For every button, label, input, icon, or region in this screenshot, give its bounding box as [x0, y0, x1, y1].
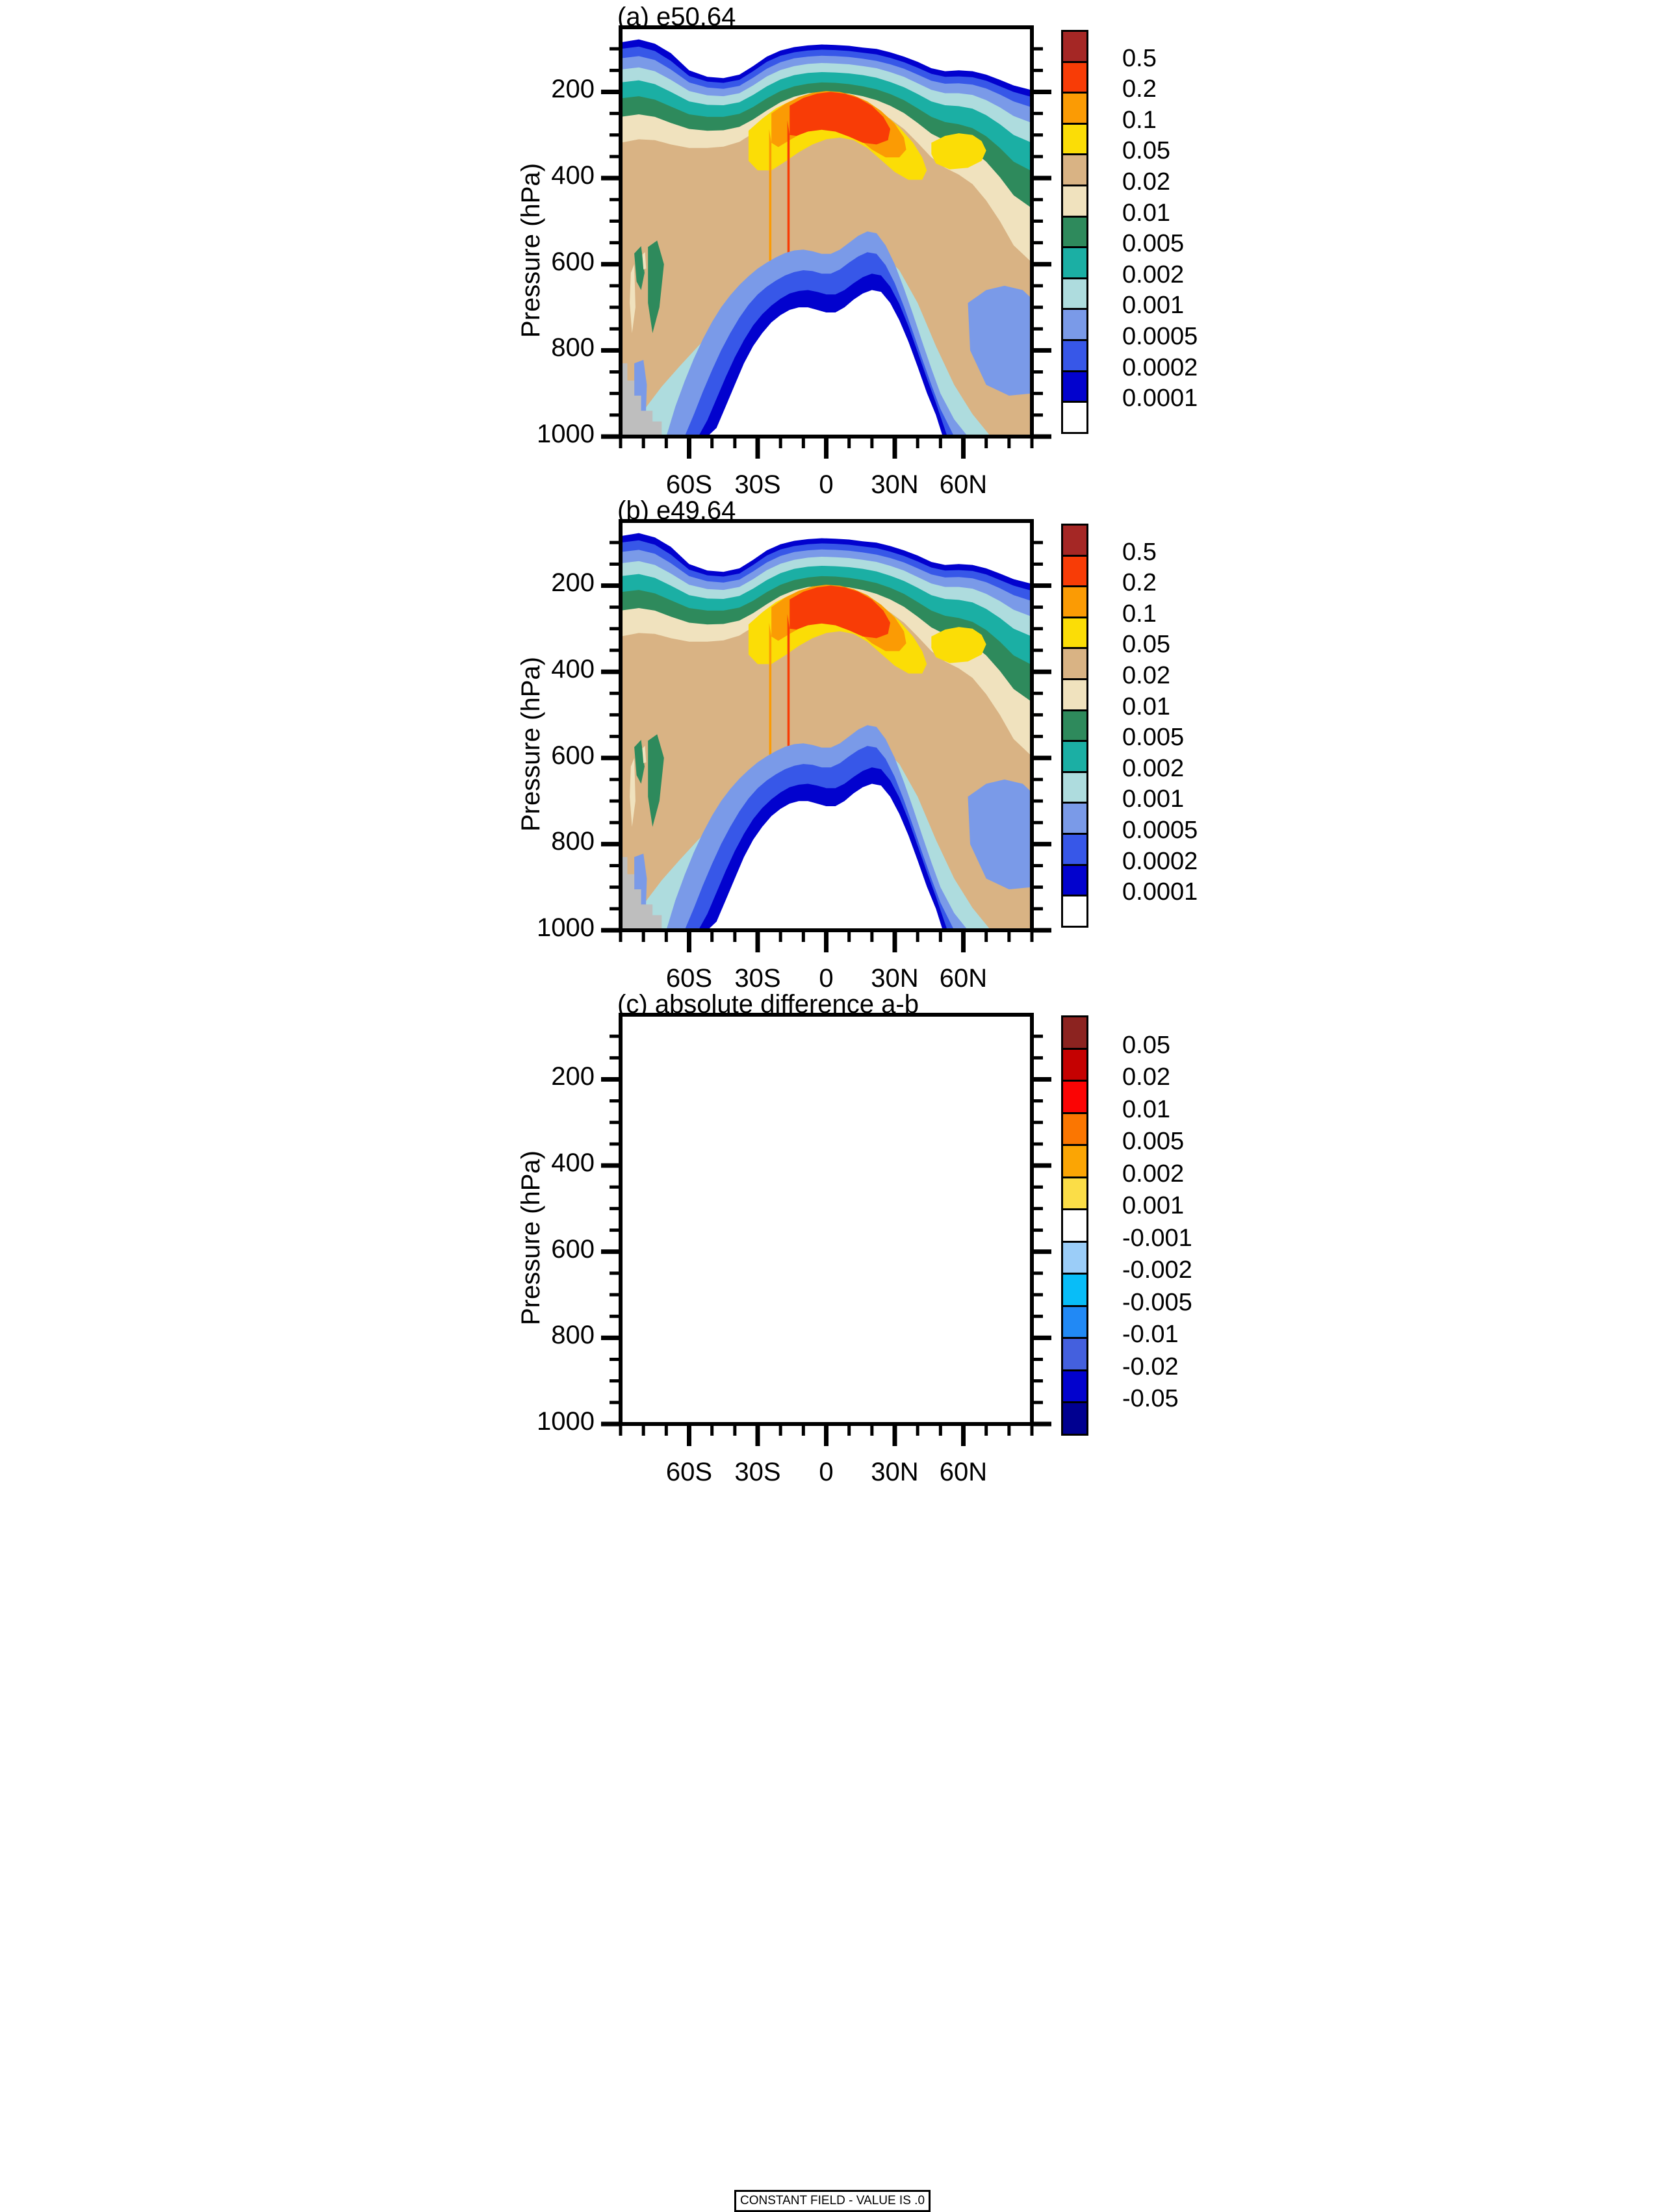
- colorbar-label: 0.002: [1122, 755, 1184, 783]
- colorbar-swatch: [1061, 1273, 1088, 1307]
- colorbar-swatch: [1061, 1369, 1088, 1404]
- colorbar-swatch: [1061, 895, 1088, 928]
- colorbar-label: 0.005: [1122, 230, 1184, 258]
- colorbar-swatch: [1061, 740, 1088, 773]
- colorbar-swatch: [1061, 647, 1088, 680]
- colorbar-label: 0.0001: [1122, 385, 1198, 413]
- colorbar-label: 0.02: [1122, 168, 1170, 196]
- colorbar-label: 0.002: [1122, 1160, 1184, 1188]
- colorbar-label: 0.0001: [1122, 878, 1198, 906]
- y-tick-label: 200: [471, 1062, 595, 1091]
- panel-c-contour-field: [619, 1013, 1034, 1426]
- colorbar-swatch: [1061, 1015, 1088, 1050]
- colorbar-label: 0.5: [1122, 45, 1157, 73]
- colorbar-label: 0.1: [1122, 600, 1157, 628]
- colorbar-swatch: [1061, 216, 1088, 249]
- colorbar-swatch: [1061, 585, 1088, 618]
- colorbar-swatch: [1061, 1112, 1088, 1147]
- colorbar-label: 0.2: [1122, 75, 1157, 103]
- colorbar-label: -0.01: [1122, 1321, 1179, 1349]
- colorbar-swatch: [1061, 617, 1088, 650]
- colorbar-swatch: [1061, 92, 1088, 125]
- colorbar-swatch: [1061, 1048, 1088, 1082]
- colorbar-label: 0.0002: [1122, 848, 1198, 876]
- y-tick-label: 600: [471, 741, 595, 770]
- constant-field-annotation: CONSTANT FIELD - VALUE IS .0: [734, 2190, 931, 2212]
- colorbar-label: 0.005: [1122, 1128, 1184, 1156]
- colorbar-swatch: [1061, 833, 1088, 866]
- colorbar-swatch: [1061, 771, 1088, 804]
- x-tick-label: 60N: [918, 470, 1009, 500]
- colorbar-swatch: [1061, 339, 1088, 372]
- y-tick-label: 400: [471, 161, 595, 190]
- colorbar-swatch: [1061, 1144, 1088, 1178]
- colorbar-swatch: [1061, 61, 1088, 94]
- colorbar-swatch: [1061, 555, 1088, 588]
- colorbar-label: 0.0005: [1122, 323, 1198, 351]
- colorbar-swatch: [1061, 1208, 1088, 1243]
- colorbar-label: 0.01: [1122, 199, 1170, 227]
- colorbar-label: 0.001: [1122, 292, 1184, 320]
- colorbar-swatch: [1061, 1241, 1088, 1275]
- colorbar-label: 0.0005: [1122, 817, 1198, 845]
- colorbar-label: 0.05: [1122, 631, 1170, 659]
- colorbar-swatch: [1061, 1080, 1088, 1114]
- y-tick-label: 600: [471, 248, 595, 277]
- colorbar-swatch: [1061, 1176, 1088, 1211]
- colorbar-swatch: [1061, 370, 1088, 403]
- colorbar-label: 0.002: [1122, 261, 1184, 289]
- colorbar-swatch: [1061, 864, 1088, 897]
- colorbar-label: 0.01: [1122, 693, 1170, 721]
- y-tick-label: 1000: [471, 1407, 595, 1436]
- colorbar-label: -0.05: [1122, 1385, 1179, 1413]
- y-tick-label: 200: [471, 75, 595, 104]
- colorbar-label: 0.5: [1122, 539, 1157, 566]
- colorbar-label: -0.005: [1122, 1289, 1192, 1317]
- y-tick-label: 1000: [471, 420, 595, 449]
- colorbar-swatch: [1061, 401, 1088, 434]
- y-tick-label: 800: [471, 333, 595, 362]
- colorbar-swatch: [1061, 1401, 1088, 1436]
- colorbar-label: -0.002: [1122, 1256, 1192, 1284]
- panel-b-contour-field: [619, 519, 1034, 932]
- colorbar-label: 0.05: [1122, 137, 1170, 165]
- colorbar-label: 0.02: [1122, 1063, 1170, 1091]
- colorbar-label: 0.2: [1122, 569, 1157, 597]
- y-tick-label: 400: [471, 655, 595, 684]
- colorbar-label: 0.001: [1122, 785, 1184, 813]
- colorbar-swatch: [1061, 524, 1088, 557]
- colorbar-swatch: [1061, 1305, 1088, 1340]
- colorbar-label: 0.0002: [1122, 354, 1198, 382]
- colorbar-label: -0.02: [1122, 1353, 1179, 1381]
- colorbar-swatch: [1061, 153, 1088, 186]
- y-tick-label: 600: [471, 1235, 595, 1264]
- y-tick-label: 200: [471, 568, 595, 598]
- panel-a-contour-field: [619, 25, 1034, 439]
- colorbar-label: 0.02: [1122, 662, 1170, 690]
- y-tick-label: 400: [471, 1149, 595, 1178]
- colorbar-swatch: [1061, 123, 1088, 156]
- colorbar-swatch: [1061, 184, 1088, 218]
- colorbar-swatch: [1061, 709, 1088, 743]
- x-tick-label: 60N: [918, 964, 1009, 993]
- colorbar-swatch: [1061, 277, 1088, 311]
- colorbar-label: -0.001: [1122, 1225, 1192, 1252]
- colorbar-swatch: [1061, 802, 1088, 835]
- colorbar-label: 0.001: [1122, 1192, 1184, 1220]
- y-tick-label: 800: [471, 1321, 595, 1350]
- colorbar-swatch: [1061, 308, 1088, 341]
- colorbar-swatch: [1061, 1337, 1088, 1371]
- colorbar-swatch: [1061, 678, 1088, 711]
- y-tick-label: 1000: [471, 913, 595, 943]
- colorbar-swatch: [1061, 30, 1088, 63]
- x-tick-label: 60N: [918, 1458, 1009, 1487]
- colorbar-label: 0.05: [1122, 1032, 1170, 1060]
- y-tick-label: 800: [471, 827, 595, 856]
- colorbar-label: 0.1: [1122, 107, 1157, 134]
- colorbar-swatch: [1061, 246, 1088, 279]
- colorbar-label: 0.01: [1122, 1096, 1170, 1124]
- colorbar-label: 0.005: [1122, 724, 1184, 752]
